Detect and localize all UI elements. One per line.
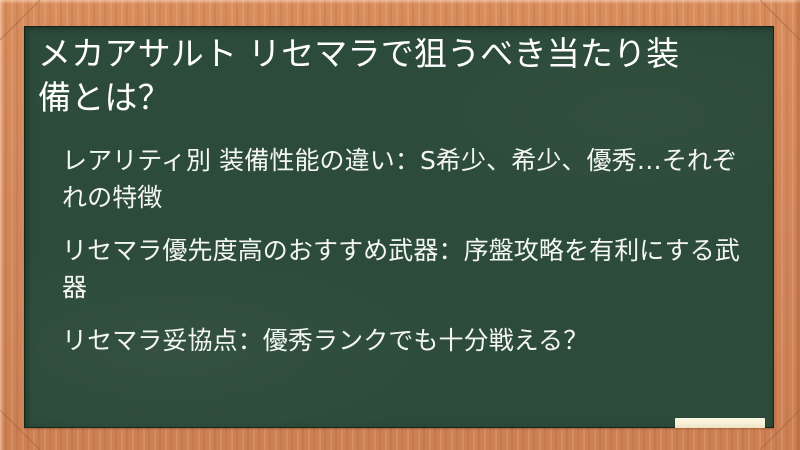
board-topic-item-2: リセマラ優先度高のおすすめ武器：序盤攻略を有利にする武器 bbox=[62, 232, 752, 306]
chalk-stick bbox=[675, 418, 765, 428]
chalkboard-surface: メカアサルト リセマラで狙うべき当たり装備とは？ レアリティ別 装備性能の違い：… bbox=[24, 26, 774, 428]
blackboard-frame: メカアサルト リセマラで狙うべき当たり装備とは？ レアリティ別 装備性能の違い：… bbox=[0, 0, 800, 450]
board-content: メカアサルト リセマラで狙うべき当たり装備とは？ レアリティ別 装備性能の違い：… bbox=[24, 26, 774, 359]
board-topic-item-1: レアリティ別 装備性能の違い：S希少、希少、優秀…それぞれの特徴 bbox=[62, 142, 752, 216]
board-topic-item-3: リセマラ妥協点：優秀ランクでも十分戦える？ bbox=[62, 322, 752, 359]
frame-bevel-top bbox=[0, 0, 800, 4]
frame-bevel-left bbox=[0, 0, 4, 450]
board-topic-list: レアリティ別 装備性能の違い：S希少、希少、優秀…それぞれの特徴 リセマラ優先度… bbox=[38, 142, 752, 359]
board-title: メカアサルト リセマラで狙うべき当たり装備とは？ bbox=[38, 32, 710, 120]
frame-bevel-right bbox=[794, 0, 800, 450]
